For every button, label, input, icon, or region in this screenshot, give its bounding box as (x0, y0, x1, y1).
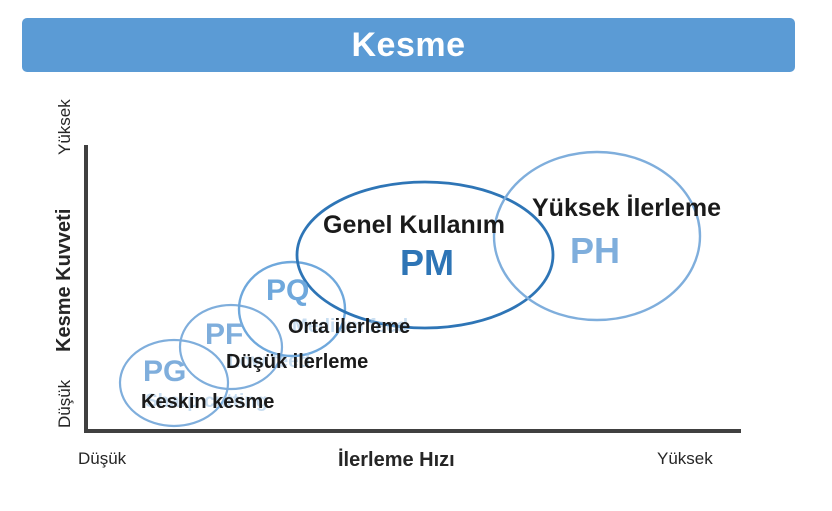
y-axis-title: Kesme Kuvveti (54, 209, 74, 352)
bubble-code-pq: PQ (266, 276, 309, 306)
x-axis-line (84, 429, 741, 433)
y-axis-low-label: Düşük (56, 380, 73, 428)
bubble-code-pf: PF (205, 320, 243, 350)
title-banner: Kesme (22, 18, 795, 72)
bubble-description-pq: Orta ilerleme (288, 317, 410, 337)
y-axis-high-label: Yüksek (56, 99, 73, 155)
bubble-code-pg: PG (143, 357, 186, 387)
bubble-description-pg: Keskin kesme (141, 392, 274, 412)
x-axis-high-label: Yüksek (657, 450, 713, 467)
page-title: Kesme (351, 28, 465, 62)
x-axis-low-label: Düşük (78, 450, 126, 467)
cutting-diagram-page: Kesme Yüksek Kesme Kuvveti Düşük Düşük İ… (0, 0, 832, 511)
bubble-code-ph: PH (570, 233, 620, 269)
y-axis-line (84, 145, 88, 433)
x-axis-title: İlerleme Hızı (338, 450, 455, 470)
bubble-description-ph: Yüksek İlerleme (532, 196, 721, 221)
bubble-description-pm: Genel Kullanım (323, 213, 505, 238)
bubble-code-pm: PM (400, 245, 454, 281)
bubble-description-pf: Düşük ilerleme (226, 352, 368, 372)
